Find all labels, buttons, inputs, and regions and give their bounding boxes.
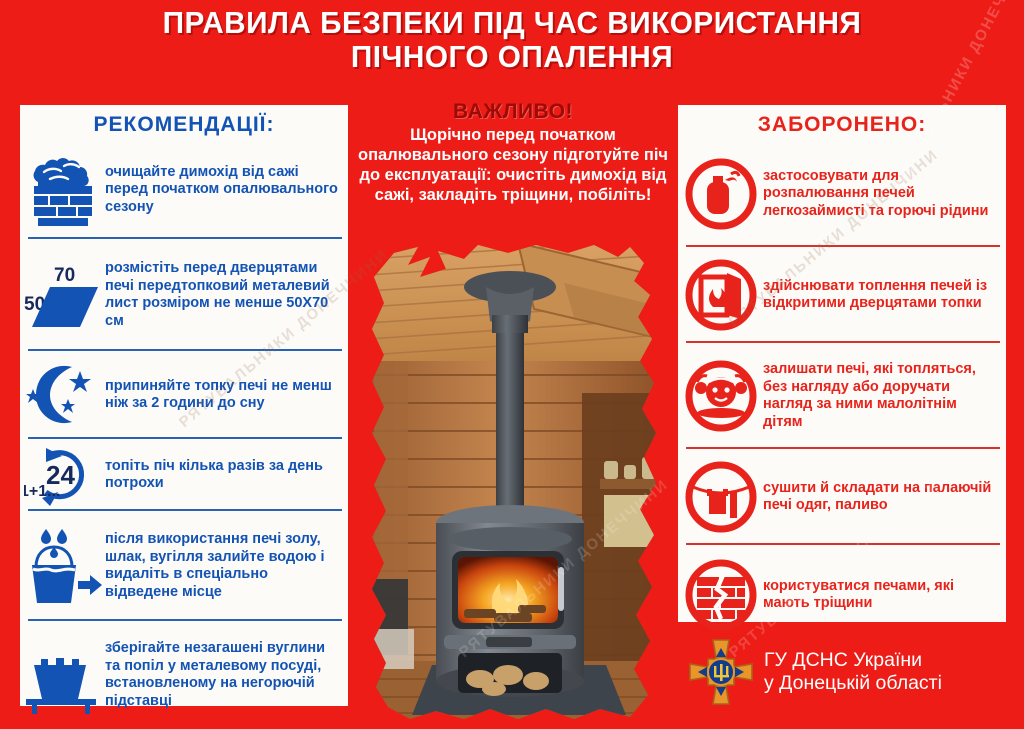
chimney-smoke-icon: [24, 151, 102, 229]
list-item: припиняйте топку печі не менш ніж за 2 г…: [20, 351, 348, 439]
list-item-label: застосовувати для розпалювання печей лег…: [760, 168, 1000, 221]
list-item: застосовувати для розпалювання печей лег…: [678, 141, 1006, 247]
title-line-2: ПІЧНОГО ОПАЛЕННЯ: [20, 40, 1003, 74]
no-flammable-liquid-icon: [682, 155, 760, 233]
metal-sheet-width-label: 70: [54, 265, 75, 286]
page-title: ПРАВИЛА БЕЗПЕКИ ПІД ЧАС ВИКОРИСТАННЯ ПІЧ…: [20, 6, 1003, 74]
no-open-firebox-door-icon: [682, 256, 760, 334]
no-cracked-brick-stove-icon: [682, 556, 760, 634]
list-item-label: після використання печі золу, шлак, вугі…: [102, 531, 342, 601]
list-item-label: топіть піч кілька разів за день потрохи: [102, 458, 342, 493]
list-item-label: користуватися печами, які мають тріщини: [760, 578, 1000, 613]
list-item: після використання печі золу, шлак, вугі…: [20, 511, 348, 621]
footer-text: ГУ ДСНС України у Донецькій області: [754, 649, 1010, 695]
clock-24-icon: 24 1+1...: [24, 436, 102, 514]
list-item-label: залишати печі, які топляться, без нагляд…: [760, 361, 1000, 431]
list-item: зберігайте незагашені вуглини та попіл у…: [20, 621, 348, 729]
forbidden-heading: ЗАБОРОНЕНО:: [678, 105, 1006, 141]
list-item: залишати печі, які топляться, без нагляд…: [678, 343, 1006, 449]
list-item-label: припиняйте топку печі не менш ніж за 2 г…: [102, 378, 342, 413]
footer: ГУ ДСНС України у Донецькій області: [680, 632, 1010, 712]
footer-line-2: у Донецькій області: [764, 672, 1010, 695]
forbidden-panel: ЗАБОРОНЕНО: застосовувати для розпалюван…: [678, 105, 1006, 622]
list-item-label: очищайте димохід від сажі перед початком…: [102, 164, 342, 217]
list-item: 24 1+1... топіть піч кілька разів за ден…: [20, 439, 348, 511]
list-item: здійснювати топлення печей із відкритими…: [678, 247, 1006, 343]
list-item-label: розмістіть перед дверцятами печі передто…: [102, 260, 342, 330]
stove-photo: [368, 243, 662, 721]
list-item-label: здійснювати топлення печей із відкритими…: [760, 278, 1000, 313]
poster-root: ПРАВИЛА БЕЗПЕКИ ПІД ЧАС ВИКОРИСТАННЯ ПІЧ…: [0, 0, 1024, 721]
important-notice: ВАЖЛИВО! Щорічно перед початком опалювал…: [352, 100, 674, 205]
footer-line-1: ГУ ДСНС України: [764, 649, 1010, 672]
list-item: 70 50 розмістіть перед дверцятами печі п…: [20, 239, 348, 351]
list-item: сушити й складати на палаючій печі одяг,…: [678, 449, 1006, 545]
clock-sum-label: 1+1...: [24, 483, 60, 500]
title-line-1: ПРАВИЛА БЕЗПЕКИ ПІД ЧАС ВИКОРИСТАННЯ: [163, 5, 862, 40]
metal-sheet-icon: 70 50: [24, 256, 102, 334]
recommendations-panel: РЕКОМЕНДАЦІЇ: очищайте димохід від сажі …: [20, 105, 348, 706]
no-unattended-child-icon: [682, 357, 760, 435]
metal-container-icon: [24, 636, 102, 714]
important-label: ВАЖЛИВО!: [352, 100, 674, 124]
recommendations-heading: РЕКОМЕНДАЦІЇ:: [20, 105, 348, 141]
list-item: користуватися печами, які мають тріщини: [678, 545, 1006, 645]
list-item: очищайте димохід від сажі перед початком…: [20, 141, 348, 239]
no-drying-clothes-icon: [682, 458, 760, 536]
moon-stars-icon: [24, 356, 102, 434]
dsns-emblem-icon: [688, 637, 754, 707]
bucket-water-icon: [24, 527, 102, 605]
list-item-label: зберігайте незагашені вуглини та попіл у…: [102, 640, 342, 710]
list-item-label: сушити й складати на палаючій печі одяг,…: [760, 480, 1000, 515]
important-body: Щорічно перед початком опалювального сез…: [352, 124, 674, 205]
